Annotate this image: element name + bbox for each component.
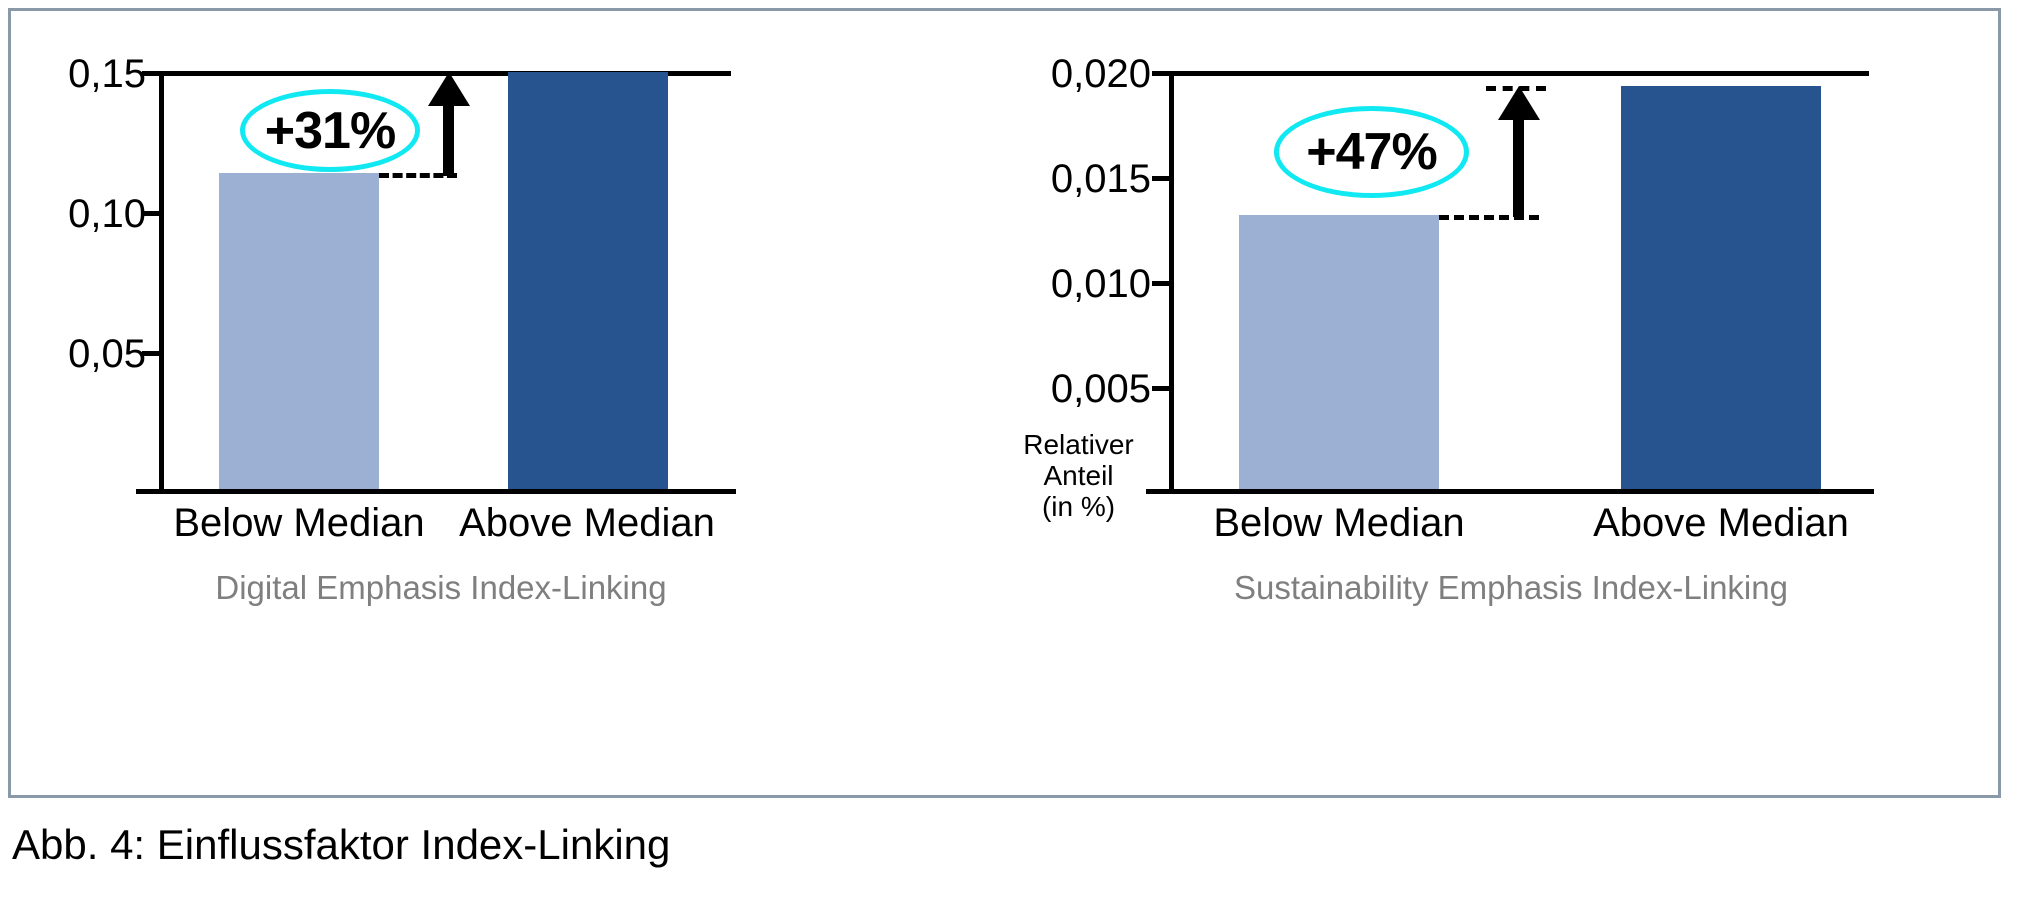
growth-arrow-head — [428, 72, 470, 106]
bar-above-median — [508, 72, 668, 489]
y-tick-0-15 — [142, 71, 159, 76]
figure-caption: Abb. 4: Einflussfaktor Index-Linking — [12, 820, 670, 870]
x-category-below-median: Below Median — [1211, 501, 1467, 545]
plot-top-line — [1169, 71, 1869, 76]
bar-above-median — [1621, 86, 1821, 489]
bar-below-median — [1239, 215, 1439, 489]
y-tick-0-005 — [1152, 386, 1169, 391]
y-axis-title-line-3: (in %) — [1001, 491, 1156, 522]
y-tick-label-0-005: 0,005 — [1011, 369, 1151, 409]
growth-badge: +47% — [1274, 106, 1469, 198]
y-axis-title-line-1: Relativer — [1001, 429, 1156, 460]
x-category-above-median: Above Median — [1593, 501, 1849, 545]
y-axis-line — [1169, 71, 1174, 491]
chart-subtitle: Sustainability Emphasis Index-Linking — [1131, 569, 1891, 607]
y-tick-label-0-010: 0,010 — [1011, 264, 1151, 304]
growth-arrow-shaft — [443, 95, 454, 176]
y-tick-0-10 — [142, 211, 159, 216]
y-tick-0-010 — [1152, 281, 1169, 286]
chart-panel-digital-emphasis: 0,15 0,10 0,05 +31% Below Median Above M… — [11, 11, 941, 795]
growth-arrow-head — [1498, 86, 1540, 120]
chart-subtitle: Digital Emphasis Index-Linking — [131, 569, 751, 607]
y-axis-line — [159, 71, 164, 491]
x-axis-line — [1146, 489, 1874, 494]
x-axis-line — [136, 489, 736, 494]
x-category-below-median: Below Median — [171, 501, 427, 545]
y-tick-label-0-15: 0,15 — [41, 54, 146, 94]
y-tick-0-020 — [1152, 71, 1169, 76]
figure-frame: 0,15 0,10 0,05 +31% Below Median Above M… — [8, 8, 2001, 798]
bar-below-median — [219, 173, 379, 489]
y-tick-label-0-05: 0,05 — [41, 334, 146, 374]
growth-badge-label: +47% — [1306, 126, 1436, 178]
y-tick-label-0-10: 0,10 — [41, 194, 146, 234]
x-category-above-median: Above Median — [459, 501, 715, 545]
growth-arrow-shaft — [1513, 109, 1524, 217]
y-tick-label-0-020: 0,020 — [1011, 54, 1151, 94]
y-axis-title-line-2: Anteil — [1001, 460, 1156, 491]
growth-dash-line-bottom — [1439, 215, 1539, 220]
y-tick-0-015 — [1152, 176, 1169, 181]
growth-badge: +31% — [240, 89, 420, 172]
growth-badge-label: +31% — [265, 105, 395, 157]
y-tick-label-0-015: 0,015 — [1011, 159, 1151, 199]
y-tick-0-05 — [142, 351, 159, 356]
chart-panel-sustainability-emphasis: 0,020 0,015 0,010 0,005 Relativer Anteil… — [941, 11, 2001, 795]
